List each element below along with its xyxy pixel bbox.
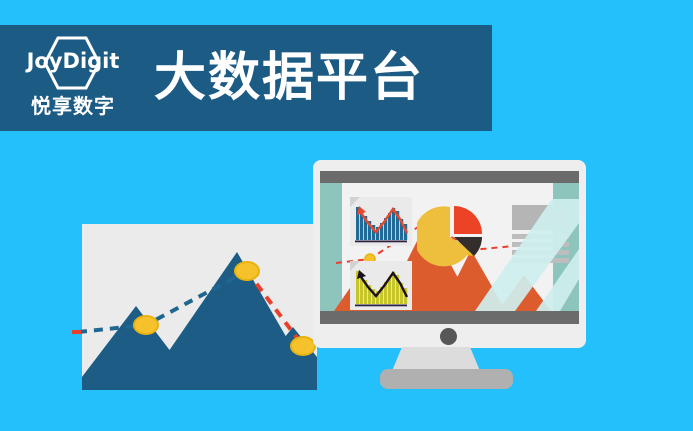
article-placeholder[interactable] bbox=[512, 205, 569, 266]
pie-chart[interactable] bbox=[417, 201, 487, 271]
text-line bbox=[512, 250, 569, 255]
header-band: JoyDigit 悦享数字 大数据平台 bbox=[0, 25, 492, 131]
page-title: 大数据平台 bbox=[154, 52, 424, 104]
monitor-screen[interactable] bbox=[320, 183, 579, 311]
banner-canvas: JoyDigit 悦享数字 大数据平台 bbox=[0, 0, 693, 431]
left-chart-panel bbox=[82, 224, 317, 390]
text-line bbox=[512, 234, 569, 239]
image-placeholder bbox=[512, 205, 569, 230]
brand-logo[interactable]: JoyDigit 悦享数字 bbox=[14, 32, 132, 124]
text-line bbox=[512, 258, 569, 263]
monitor-stand bbox=[380, 347, 520, 393]
text-line bbox=[512, 242, 569, 247]
left-mountains bbox=[82, 224, 317, 390]
monitor-bottom-bar bbox=[320, 311, 579, 324]
bar-chart-card-blue[interactable] bbox=[350, 197, 412, 246]
bar-chart-card-yellow[interactable] bbox=[350, 261, 412, 310]
monitor bbox=[313, 160, 586, 348]
monitor-top-bar bbox=[320, 171, 579, 183]
pie-chart-graphic bbox=[417, 201, 487, 271]
logo-latin-text: JoyDigit bbox=[14, 49, 132, 73]
blue-bar-chart bbox=[350, 197, 412, 246]
power-indicator-icon bbox=[440, 328, 457, 345]
logo-chinese-text: 悦享数字 bbox=[14, 90, 132, 119]
yellow-bar-chart bbox=[350, 261, 412, 310]
